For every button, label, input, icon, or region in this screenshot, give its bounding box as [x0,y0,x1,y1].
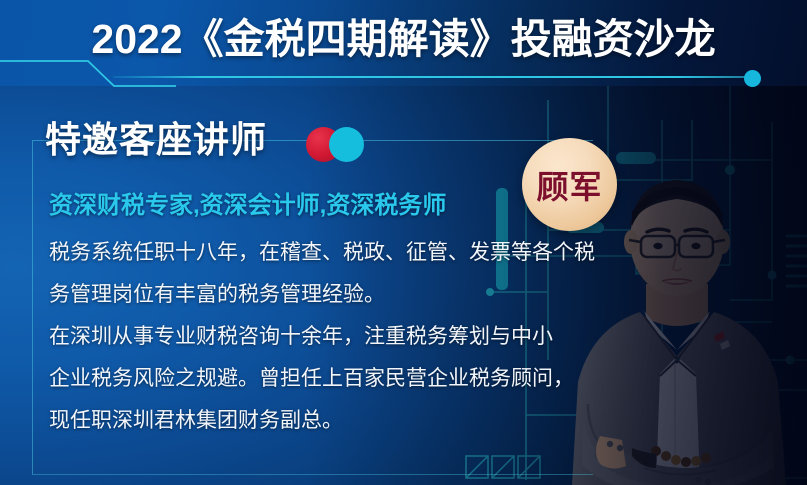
speaker-name: 顾军 [522,138,617,231]
cyan-circle-marker [329,127,364,162]
speaker-name-badge: 顾军 [522,138,617,231]
bio-line: 企业税务风险之规避。曾担任上百家民营企业税务顾问， [49,358,589,400]
bio-paragraph: 税务系统任职十八年，在稽查、税政、征管、发票等各个税 务管理岗位有丰富的税务管理… [49,232,589,442]
bio-line: 税务系统任职十八年，在稽查、税政、征管、发票等各个税 [49,232,589,274]
cyan-rule-line [113,76,753,78]
bio-line: 现任职深圳君林集团财务副总。 [49,400,589,442]
poster-canvas: 2022《金税四期解读》投融资沙龙 特邀客座讲师 资深财税专家,资深会计师,资深… [0,0,807,485]
cyan-rule-dot [744,70,761,87]
credentials-text: 资深财税专家,资深会计师,资深税务师 [49,191,446,221]
bio-line: 务管理岗位有丰富的税务管理经验。 [49,274,589,316]
cyan-angle-trace [0,58,176,104]
bio-line: 在深圳从事专业财税咨询十余年，注重税务筹划与中小 [49,316,589,358]
page-title: 2022《金税四期解读》投融资沙龙 [0,14,807,64]
headline-text: 特邀客座讲师 [45,118,267,162]
